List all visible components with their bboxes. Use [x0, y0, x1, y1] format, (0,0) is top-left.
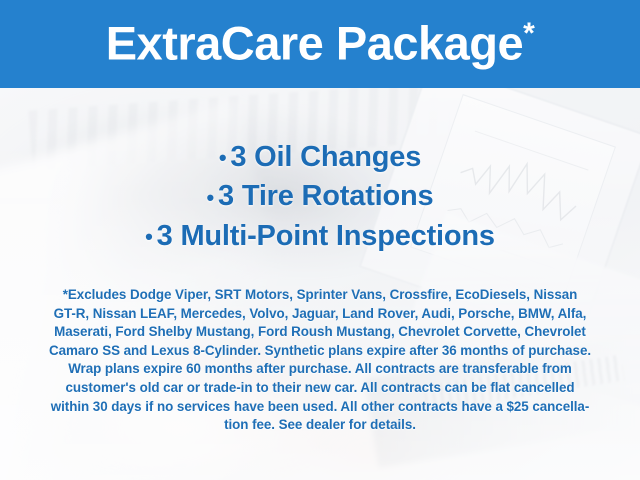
benefit-item: •3 Oil Changes: [0, 138, 640, 177]
benefits-list: •3 Oil Changes •3 Tire Rotations •3 Mult…: [0, 138, 640, 256]
page-title-asterisk: *: [523, 17, 534, 50]
disclaimer-line: within 30 days if no services have been …: [26, 398, 614, 417]
disclaimer-line: Camaro SS and Lexus 8-Cylinder. Syntheti…: [26, 342, 614, 361]
disclaimer-line: Maserati, Ford Shelby Mustang, Ford Rous…: [26, 323, 614, 342]
page-title-text: ExtraCare Package: [106, 17, 523, 70]
page-title: ExtraCare Package*: [106, 19, 535, 67]
benefit-item-label: 3 Multi-Point Inspections: [157, 220, 495, 252]
benefit-item: •3 Multi-Point Inspections: [0, 217, 640, 256]
disclaimer-line: GT-R, Nissan LEAF, Mercedes, Volvo, Jagu…: [26, 305, 614, 324]
disclaimer-line: tion fee. See dealer for details.: [26, 416, 614, 435]
disclaimer-line: Wrap plans expire 60 months after purcha…: [26, 360, 614, 379]
header-band: ExtraCare Package*: [0, 0, 640, 88]
bullet-icon: •: [145, 224, 153, 249]
disclaimer-fineprint: *Excludes Dodge Viper, SRT Motors, Sprin…: [26, 286, 614, 435]
bullet-icon: •: [219, 145, 227, 170]
disclaimer-line: customer's old car or trade-in to their …: [26, 379, 614, 398]
benefit-item-label: 3 Oil Changes: [230, 141, 421, 173]
bullet-icon: •: [207, 185, 215, 210]
extracare-package-promo-card: ExtraCare Package* •3 Oil Changes •3 Tir…: [0, 0, 640, 480]
benefit-item-label: 3 Tire Rotations: [218, 180, 433, 212]
benefit-item: •3 Tire Rotations: [0, 177, 640, 216]
disclaimer-line: *Excludes Dodge Viper, SRT Motors, Sprin…: [26, 286, 614, 305]
